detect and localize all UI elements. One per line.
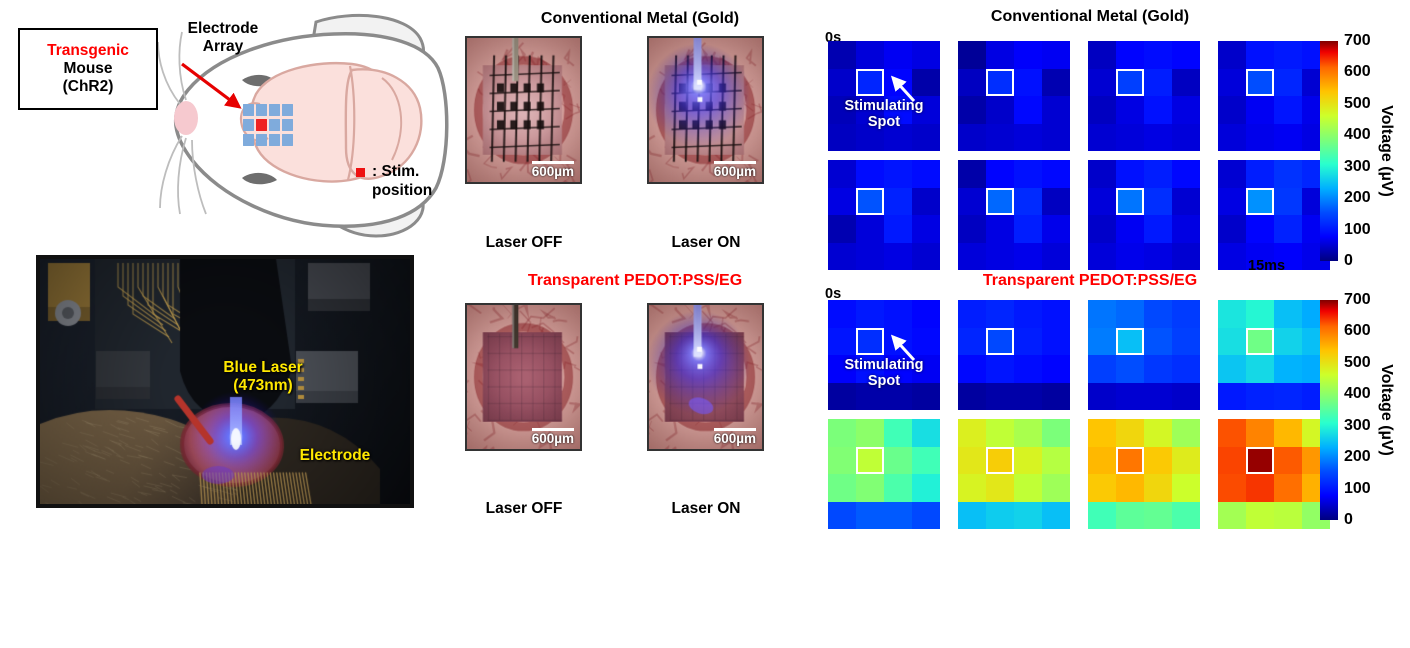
electrode-cell [269,119,280,131]
heatmap-cell [1088,419,1116,447]
heatmap-cell [912,447,940,475]
heatmap-cell [1014,96,1042,124]
heatmap-cell [1274,124,1302,152]
colorbar-tick-label: 600 [1344,63,1371,81]
heatmap-cell [958,69,986,97]
heatmap-cell [1116,474,1144,502]
stimulating-spot-roi [1246,328,1274,356]
microscopy-gold-title: Conventional Metal (Gold) [470,10,810,28]
stimulating-spot-roi [1116,328,1144,356]
colorbar-gradient-icon [1320,300,1338,520]
heatmap-cell [912,474,940,502]
heatmap-cell [1088,474,1116,502]
heatmap-cell [1144,96,1172,124]
heatmap-cell [958,96,986,124]
heatmap-cell [1218,69,1246,97]
heatmap-cell [1144,474,1172,502]
invivo-photo-panel: Blue Laser (473nm) Electrode [36,255,414,508]
heatmap-cell [1218,419,1246,447]
heatmap-cell [1116,300,1144,328]
electrode-cell-stimulation [256,119,267,131]
electrode-cell [256,134,267,146]
electrode-cell [243,119,254,131]
colorbar-gold: 7006005004003002001000 Voltage (µV) [1320,41,1410,261]
heatmap-cell [1014,300,1042,328]
heatmap-cell [1274,160,1302,188]
colorbar-tick-label: 400 [1344,385,1371,403]
electrode-array-label-line2: Array [168,38,278,56]
colorbar-tick-label: 600 [1344,322,1371,340]
heatmap-cell [958,243,986,271]
heatmap-cell [1042,355,1070,383]
heatmap-cell [856,160,884,188]
heatmap-cell [828,447,856,475]
heatmap-cell [1014,474,1042,502]
heatmap-cell [1088,328,1116,356]
heatmap-cell [1088,300,1116,328]
heatmap-cell [884,447,912,475]
heatmap-cell [986,41,1014,69]
scalebar-gold-off: 600µm [532,161,574,179]
heatmap-cell [828,69,856,97]
blue-laser-label-line2: (473nm) [188,377,338,395]
heatmap-cell [884,41,912,69]
stimulating-spot-roi [1116,188,1144,216]
heatmap-cell [1116,502,1144,530]
stimulating-spot-roi [986,188,1014,216]
figure-root: Transgenic Mouse (ChR2) Electrode Array … [0,0,1410,648]
heatmap-cell [986,160,1014,188]
heatmap-cell [958,447,986,475]
stim-marker-icon [356,168,365,177]
heatmap-cell [1218,96,1246,124]
heatmap-cell [856,419,884,447]
heatmap-cell [958,502,986,530]
heatmap-cell [958,188,986,216]
heatmap-cell [1246,502,1274,530]
heatmap-cell [912,419,940,447]
heatmap-cell [1246,355,1274,383]
colorbar-tick-label: 100 [1344,221,1371,239]
heatmap-cell [1274,355,1302,383]
heatmap-cell [1172,300,1200,328]
heatmap-cell [856,41,884,69]
heatmap-cell [1116,124,1144,152]
heatmap-cell [912,188,940,216]
heatmap-cell [1274,41,1302,69]
heatmap-panel: Conventional Metal (Gold) 0s Stimulating… [820,0,1410,530]
heatmap-cell [1116,243,1144,271]
heatmap-cell [884,419,912,447]
heatmap-cell [1088,188,1116,216]
heatmap-cell [958,160,986,188]
heatmap-frame [828,160,940,270]
heatmap-cell [1014,243,1042,271]
electrode-array-label: Electrode Array [168,20,278,57]
heatmap-cell [1274,447,1302,475]
heatmap-cell [912,243,940,271]
stimulating-spot-roi [1246,447,1274,475]
heatmap-cell [1246,383,1274,411]
heatmap-cell [1172,243,1200,271]
heatmap-frame [1088,419,1200,529]
heatmap-cell [1042,328,1070,356]
stimulating-spot-roi [1116,69,1144,97]
heatmap-cell [828,419,856,447]
heatmap-cell [1014,41,1042,69]
heatmap-cell [1116,160,1144,188]
heatmap-cell [986,502,1014,530]
heatmap-cell [1274,502,1302,530]
colorbar-gradient-icon [1320,41,1338,261]
microscopy-gold-laser-on-image: 600µm [647,36,764,184]
heatmap-cell [1274,300,1302,328]
heatmap-frame [828,419,940,529]
heatmap-cell [1014,419,1042,447]
heatmap-frame [958,160,1070,270]
heatmap-cell [884,243,912,271]
heatmap-cell [986,419,1014,447]
stimulating-spot-roi [986,328,1014,356]
colorbar-tick-label: 500 [1344,354,1371,372]
colorbar-tick-label: 700 [1344,32,1371,50]
heatmap-cell [1274,419,1302,447]
heatmap-cell [1274,383,1302,411]
stimulating-spot-roi [1246,69,1274,97]
heatmap-cell [1172,215,1200,243]
heatmap-cell [884,188,912,216]
scalebar-pedot-on: 600µm [714,428,756,446]
heatmap-frame [1218,160,1330,270]
heatmap-cell [1042,96,1070,124]
array-pointer-arrow [176,58,256,118]
heatmap-frame [1218,419,1330,529]
heatmap-cell [1172,69,1200,97]
heatmap-cell [1246,419,1274,447]
heatmap-cell [828,41,856,69]
heatmap-cell [1172,419,1200,447]
heatmap-cell [958,328,986,356]
heatmap-cell [1274,96,1302,124]
colorbar-tick-label: 500 [1344,95,1371,113]
stimulating-spot-arrow-icon [884,73,924,107]
microscopy-pedot-laser-off-image: 600µm [465,303,582,451]
heatmap-cell [828,243,856,271]
stimulating-spot-roi [1246,188,1274,216]
colorbar-tick-label: 400 [1344,126,1371,144]
microscopy-pedot-title: Transparent PEDOT:PSS/EG [460,272,810,290]
microscopy-pedot-laser-on-image: 600µm [647,303,764,451]
heatmap-cell [856,243,884,271]
heatmap-cell [1014,383,1042,411]
heatmap-cell [1088,69,1116,97]
heatmap-cell [986,355,1014,383]
heatmap-cell [1088,160,1116,188]
heatmap-cell [958,474,986,502]
scalebar-pedot-off: 600µm [532,428,574,446]
heatmap-cell [1144,215,1172,243]
heatmap-cell [958,355,986,383]
colorbar-tick-label: 200 [1344,189,1371,207]
heatmap-cell [884,160,912,188]
electrode-cell [269,134,280,146]
heatmap-cell [828,474,856,502]
heatmap-cell [1218,474,1246,502]
heatmap-gold-title: Conventional Metal (Gold) [850,8,1330,26]
heatmap-cell [1116,383,1144,411]
heatmap-cell [1218,41,1246,69]
colorbar-tick-label: 200 [1344,448,1371,466]
heatmap-cell [1144,447,1172,475]
stim-position-legend: : Stim. position [356,163,466,200]
heatmap-cell [1246,96,1274,124]
heatmap-cell [958,419,986,447]
stimulating-spot-roi [856,328,884,356]
heatmap-frame [958,419,1070,529]
heatmap-cell [1218,300,1246,328]
heatmap-cell [1218,160,1246,188]
heatmap-cell [828,160,856,188]
heatmap-cell [884,474,912,502]
heatmap-cell [1042,383,1070,411]
stimulating-spot-arrow-icon [884,332,924,366]
heatmap-cell [1172,447,1200,475]
heatmap-cell [1172,328,1200,356]
heatmap-cell [1246,215,1274,243]
heatmap-cell [1274,328,1302,356]
heatmap-frame [1088,300,1200,410]
heatmap-cell [1042,41,1070,69]
heatmap-cell [1116,355,1144,383]
heatmap-cell [828,188,856,216]
electrode-cell [282,104,293,116]
heatmap-cell [912,300,940,328]
heatmap-cell [828,502,856,530]
heatmap-cell [828,215,856,243]
electrode-photo-label: Electrode [270,447,400,465]
heatmap-cell [1144,124,1172,152]
heatmap-cell [1088,447,1116,475]
electrode-cell [256,104,267,116]
heatmap-cell [1172,383,1200,411]
caption-gold-laser-on: Laser ON [646,234,766,252]
heatmap-cell [1246,124,1274,152]
scalebar-text: 600µm [532,431,574,446]
heatmap-cell [1088,124,1116,152]
colorbar-tick-label: 0 [1344,511,1353,529]
heatmap-cell [856,215,884,243]
heatmap-cell [1172,474,1200,502]
stimulating-spot-roi [986,69,1014,97]
colorbar-tick-label: 300 [1344,158,1371,176]
stimulating-spot-label-line2: Spot [828,374,940,390]
heatmap-cell [1116,215,1144,243]
heatmap-cell [986,96,1014,124]
heatmap-cell [912,160,940,188]
heatmap-cell [1274,474,1302,502]
heatmap-cell [1218,124,1246,152]
heatmap-cell [1014,160,1042,188]
heatmap-frame [1218,300,1330,410]
heatmap-cell [1144,383,1172,411]
heatmap-cell [1116,419,1144,447]
heatmap-cell [1172,41,1200,69]
heatmap-cell [1246,41,1274,69]
electrode-array-label-line1: Electrode [168,20,278,38]
caption-pedot-laser-on: Laser ON [646,500,766,518]
heatmap-cell [986,124,1014,152]
heatmap-cell [1274,215,1302,243]
heatmap-cell [1042,447,1070,475]
transgenic-mouse-box: Transgenic Mouse (ChR2) [18,28,158,110]
colorbar-pedot-label: Voltage (µV) [1377,364,1395,456]
heatmap-cell [1088,96,1116,124]
heatmap-cell [1218,328,1246,356]
heatmap-pedot-title: Transparent PEDOT:PSS/EG [850,272,1330,290]
heatmap-cell [1042,502,1070,530]
heatmap-cell [1116,96,1144,124]
electrode-cell [282,134,293,146]
heatmap-cell [986,243,1014,271]
heatmap-cell [1172,96,1200,124]
caption-gold-laser-off: Laser OFF [464,234,584,252]
chr2-label: (ChR2) [63,78,114,96]
colorbar-tick-label: 0 [1344,252,1353,270]
heatmap-cell [958,124,986,152]
heatmap-cell [1014,328,1042,356]
scalebar-text: 600µm [714,164,756,179]
heatmap-cell [1014,69,1042,97]
heatmap-cell [1014,355,1042,383]
heatmap-cell [1088,215,1116,243]
heatmap-cell [1274,188,1302,216]
heatmap-cell [1088,41,1116,69]
heatmap-cell [1172,160,1200,188]
heatmap-cell [1218,447,1246,475]
heatmap-cell [1144,328,1172,356]
caption-pedot-laser-off: Laser OFF [464,500,584,518]
colorbar-gold-label: Voltage (µV) [1377,105,1395,197]
scalebar-text: 600µm [532,164,574,179]
heatmap-cell [828,300,856,328]
stimulating-spot-roi [986,447,1014,475]
colorbar-tick-label: 100 [1344,480,1371,498]
heatmap-cell [958,41,986,69]
heatmap-cell [1246,300,1274,328]
heatmap-cell [912,502,940,530]
stimulating-spot-roi [1116,447,1144,475]
heatmap-cell [1042,69,1070,97]
heatmap-cell [1274,69,1302,97]
heatmap-cell [1144,502,1172,530]
heatmap-cell [1042,215,1070,243]
stim-legend-line2: position [372,182,432,201]
stim-legend-line1: : Stim. [372,163,419,182]
heatmap-cell [1172,188,1200,216]
blue-laser-label: Blue Laser (473nm) [188,359,338,395]
heatmap-frame [958,300,1070,410]
heatmap-frame [1088,41,1200,151]
heatmap-cell [986,215,1014,243]
electrode-cell [243,134,254,146]
electrode-cell [269,104,280,116]
heatmap-cell [1218,243,1246,271]
heatmap-cell [1042,419,1070,447]
heatmap-cell [958,383,986,411]
heatmap-frame [1218,41,1330,151]
heatmap-cell [884,502,912,530]
stimulating-spot-roi [856,69,884,97]
heatmap-cell [912,41,940,69]
heatmap-cell [1246,474,1274,502]
heatmap-cell [1042,188,1070,216]
heatmap-cell [1042,124,1070,152]
heatmap-cell [1144,69,1172,97]
heatmap-cell [1042,160,1070,188]
heatmap-cell [1088,355,1116,383]
heatmap-cell [1172,355,1200,383]
heatmap-cell [856,474,884,502]
stimulating-spot-label-line2: Spot [828,115,940,131]
heatmap-cell [1218,383,1246,411]
heatmap-cell [1144,160,1172,188]
blue-laser-label-line1: Blue Laser [188,359,338,377]
heatmap-cell [1116,41,1144,69]
heatmap-cell [1088,383,1116,411]
scalebar-text: 600µm [714,431,756,446]
heatmap-cell [1144,355,1172,383]
heatmap-cell [1172,502,1200,530]
heatmap-cell [1144,243,1172,271]
heatmap-cell [986,474,1014,502]
stimulating-spot-roi [856,188,884,216]
heatmap-cell [1218,355,1246,383]
heatmap-cell [1218,502,1246,530]
heatmap-cell [856,300,884,328]
heatmap-cell [1042,300,1070,328]
heatmap-cell [1014,124,1042,152]
electrode-cell [282,119,293,131]
heatmap-cell [958,300,986,328]
heatmap-frame [958,41,1070,151]
heatmap-cell [1172,124,1200,152]
heatmap-cell [1246,160,1274,188]
heatmap-cell [856,502,884,530]
heatmap-cell [1144,41,1172,69]
colorbar-tick-label: 300 [1344,417,1371,435]
microscopy-panel: Conventional Metal (Gold) 600µm 600µm La… [450,0,820,530]
heatmap-cell [1014,188,1042,216]
heatmap-cell [1218,188,1246,216]
heatmap-cell [912,215,940,243]
stimulating-spot-roi [856,447,884,475]
heatmap-cell [1042,474,1070,502]
heatmap-cell [1014,502,1042,530]
heatmap-cell [986,300,1014,328]
heatmap-cell [1088,243,1116,271]
heatmap-frame [1088,160,1200,270]
microscopy-gold-laser-off-image: 600µm [465,36,582,184]
heatmap-cell [986,383,1014,411]
transgenic-label: Transgenic [47,42,129,60]
heatmap-cell [1088,502,1116,530]
heatmap-cell [958,215,986,243]
colorbar-tick-label: 700 [1344,291,1371,309]
heatmap-cell [828,328,856,356]
mouse-label: Mouse [63,60,112,78]
heatmap-cell [884,300,912,328]
heatmap-cell [1144,419,1172,447]
